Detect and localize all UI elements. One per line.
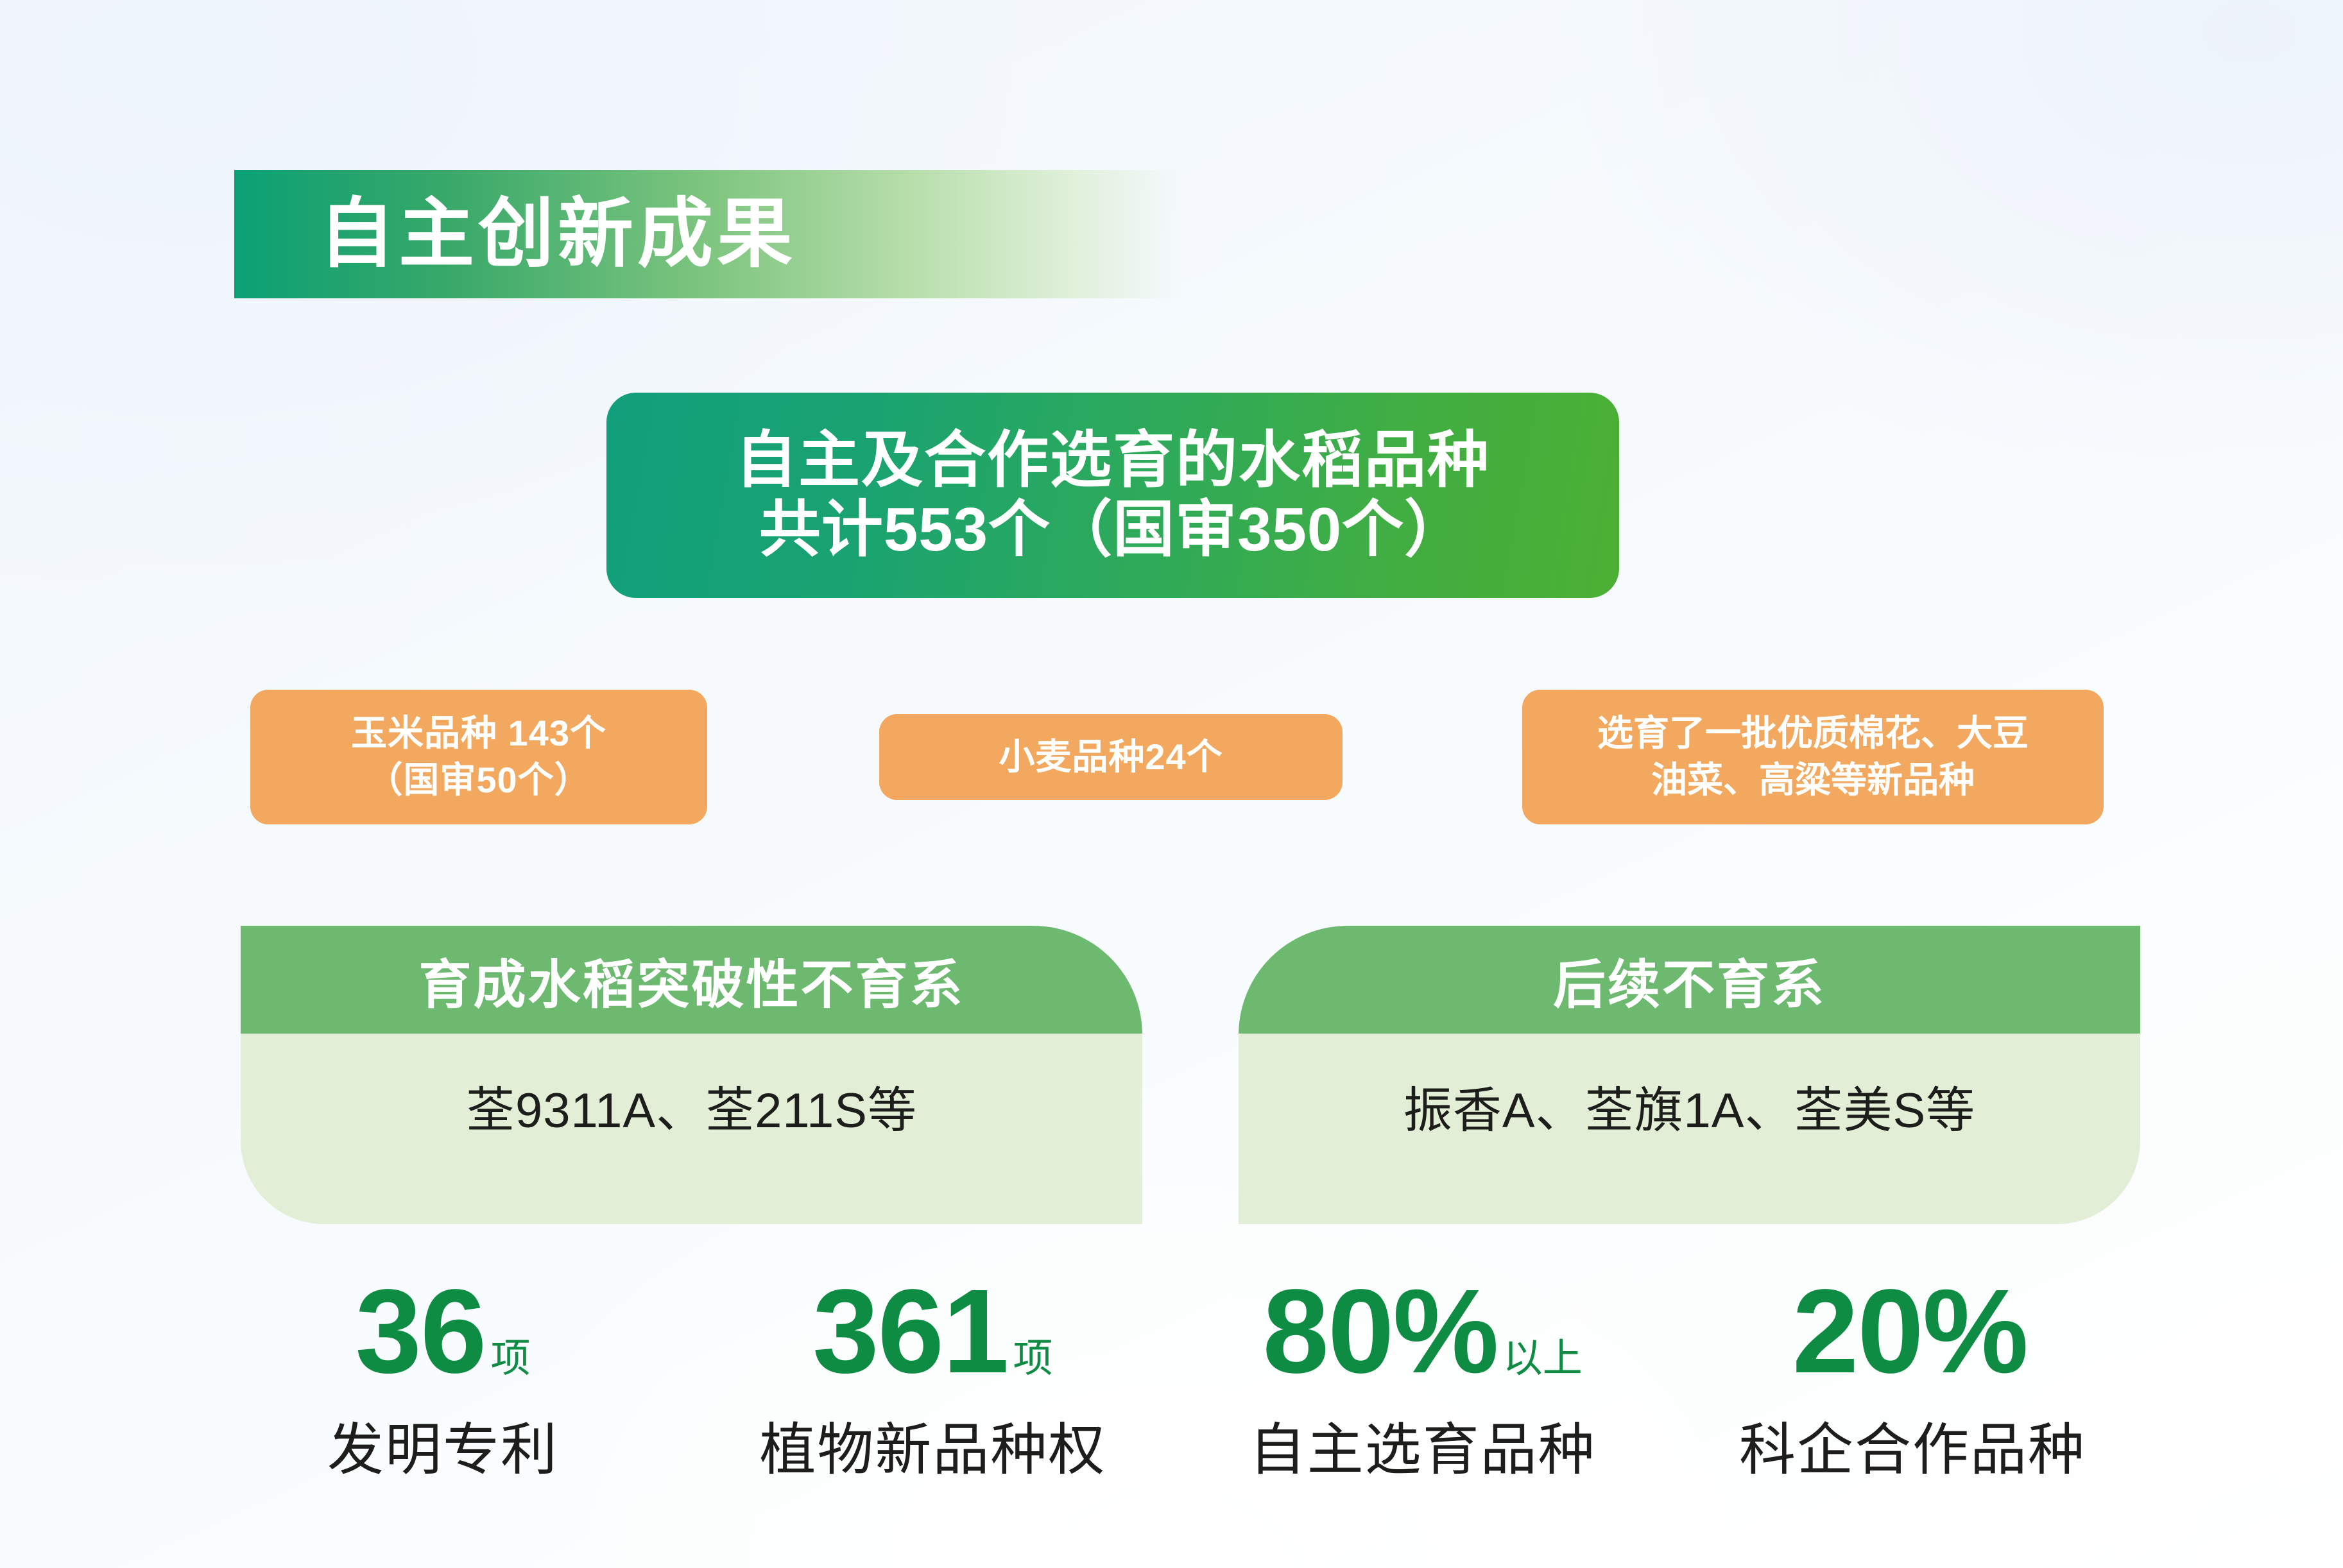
stat-self-bred-unit: 以上	[1503, 1339, 1583, 1386]
hero-line-1: 自主及合作选育的水稻品种	[735, 426, 1490, 495]
stat-patents-label: 发明专利	[327, 1404, 558, 1486]
stat-patents-value: 36	[356, 1277, 486, 1386]
stat-self-bred-label: 自主选育品种	[1249, 1404, 1596, 1486]
stat-joint-research-label: 科企合作品种	[1739, 1404, 2086, 1486]
statistics-row: 36 项 发明专利 361 项 植物新品种权 80% 以上 自主选育品种 20%	[212, 1277, 2143, 1533]
pill-wheat-line-1: 小麦品种24个	[999, 734, 1223, 781]
stat-self-bred: 80% 以上 自主选育品种	[1192, 1277, 1654, 1486]
stat-plant-rights-unit: 项	[1013, 1339, 1052, 1386]
stat-self-bred-value-group: 80% 以上	[1263, 1277, 1583, 1386]
panel-breakthrough-header: 育成水稻突破性不育系	[241, 926, 1142, 1034]
pill-other-line-1: 选育了一批优质棉花、大豆	[1597, 710, 2029, 757]
panel-breakthrough-sterile-lines: 育成水稻突破性不育系 荃9311A、荃211S等	[241, 926, 1142, 1224]
hero-line-2: 共计553个（国审350个）	[759, 495, 1466, 565]
stat-patents-value-group: 36 项	[356, 1277, 531, 1386]
infographic-page: 自主创新成果 自主及合作选育的水稻品种 共计553个（国审350个） 玉米品种 …	[0, 0, 2343, 1568]
panel-breakthrough-body: 荃9311A、荃211S等	[241, 1034, 1142, 1224]
stat-patents: 36 项 发明专利	[212, 1277, 674, 1486]
stat-plant-rights-value-group: 361 项	[812, 1277, 1052, 1386]
pill-other-crops: 选育了一批优质棉花、大豆 油菜、高粱等新品种	[1522, 690, 2104, 824]
hero-rice-varieties-card: 自主及合作选育的水稻品种 共计553个（国审350个）	[606, 393, 1619, 598]
pill-corn-varieties: 玉米品种 143个 （国审50个）	[250, 690, 707, 824]
pill-wheat-varieties: 小麦品种24个	[879, 714, 1343, 800]
panel-followup-sterile-lines: 后续不育系 振香A、荃旗1A、荃美S等	[1239, 926, 2140, 1224]
pill-corn-line-2: （国审50个）	[366, 757, 590, 804]
title-banner: 自主创新成果	[234, 170, 1183, 298]
stat-patents-unit: 项	[490, 1339, 530, 1386]
stat-plant-rights: 361 项 植物新品种权	[701, 1277, 1163, 1486]
pill-other-line-2: 油菜、高粱等新品种	[1651, 757, 1975, 804]
pill-corn-line-1: 玉米品种 143个	[351, 710, 606, 757]
panel-followup-header: 后续不育系	[1239, 926, 2140, 1034]
stat-self-bred-value: 80%	[1263, 1277, 1498, 1386]
stat-plant-rights-label: 植物新品种权	[759, 1404, 1106, 1486]
stat-joint-research-value-group: 20%	[1792, 1277, 2032, 1386]
stat-joint-research: 20% 科企合作品种	[1681, 1277, 2143, 1486]
stat-plant-rights-value: 361	[812, 1277, 1008, 1386]
panel-followup-body: 振香A、荃旗1A、荃美S等	[1239, 1034, 2140, 1224]
page-title: 自主创新成果	[319, 196, 796, 272]
stat-joint-research-value: 20%	[1792, 1277, 2027, 1386]
